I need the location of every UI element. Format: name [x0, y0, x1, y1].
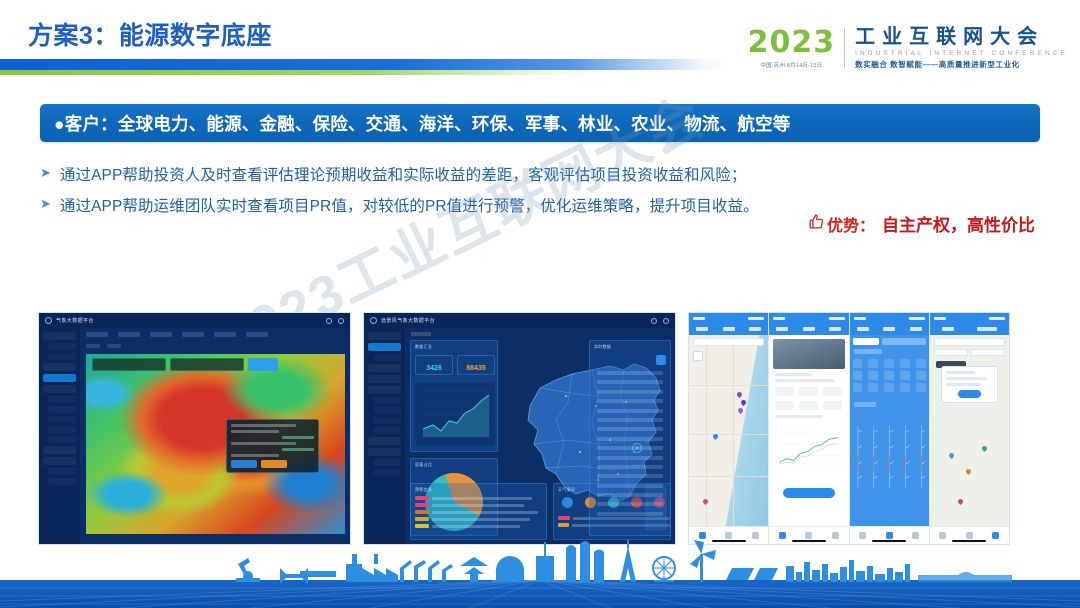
topbar-actions — [651, 318, 669, 324]
logo-chinese-name: 工业互联网大会 — [855, 26, 1068, 48]
phone-row — [689, 313, 1009, 544]
sidebar-item[interactable] — [368, 437, 401, 445]
tab-item[interactable] — [118, 332, 140, 337]
heatmap-filter-bar — [92, 358, 278, 371]
map-marker-icon[interactable] — [737, 407, 744, 414]
forecast-cell — [868, 371, 878, 380]
list-item[interactable] — [415, 503, 546, 507]
feed-item[interactable] — [597, 390, 663, 394]
popup-action-button[interactable] — [958, 390, 981, 398]
feed-item[interactable] — [597, 371, 663, 375]
sidebar-item[interactable] — [43, 446, 76, 454]
feed-item[interactable] — [597, 418, 663, 422]
sidebar-item[interactable] — [48, 396, 76, 403]
dashboard-content — [80, 328, 350, 544]
nav-bar — [930, 323, 1009, 335]
info-chip[interactable] — [775, 387, 794, 396]
phone-content — [769, 335, 848, 526]
map-canvas[interactable] — [930, 335, 1009, 526]
clock-text — [934, 317, 946, 320]
forecast-grid[interactable] — [850, 335, 929, 526]
date-range-input[interactable] — [170, 358, 244, 371]
sidebar-item[interactable] — [43, 385, 76, 393]
card-title: 预警信息 — [415, 487, 432, 493]
sidebar-item[interactable] — [368, 375, 401, 383]
feed-item[interactable] — [597, 493, 663, 497]
forecast-cell — [868, 383, 878, 392]
tab-strip — [86, 332, 344, 340]
forecast-cell — [853, 383, 863, 392]
nav-button[interactable] — [749, 327, 761, 331]
conference-logo: 2023 中国·苏州 8月14日-15日 工业互联网大会 INDUSTRIAL … — [748, 26, 1068, 70]
nav-title — [883, 327, 895, 331]
tab-home[interactable] — [699, 532, 706, 539]
forecast-cell — [900, 383, 910, 392]
logo-left-block: 2023 中国·苏州 8月14日-15日 — [748, 27, 845, 70]
slide-root: 方案3：能源数字底座 2023 中国·苏州 8月14日-15日 工业互联网大会 … — [0, 0, 1080, 608]
sidebar-item[interactable] — [43, 363, 76, 371]
chip-row — [775, 401, 842, 410]
dashboard-title: 远景风气象大数据平台 — [381, 317, 435, 324]
bullet-list: ➤ 通过APP帮助投资人及时查看评估理论预期收益和实际收益的差距，客观评估项目投… — [40, 163, 800, 225]
phone-detail-screen[interactable] — [769, 313, 849, 544]
tooltip-primary-button[interactable] — [231, 460, 257, 468]
forecast-cell — [853, 371, 863, 380]
severity-badge — [415, 510, 429, 514]
customer-banner-text: ●客户：全球电力、能源、金融、保险、交通、海洋、环保、军事、林业、农业、物流、航… — [54, 111, 790, 136]
bullet-text: 通过APP帮助运维团队实时查看项目PR值，对较低的PR值进行预警，优化运维策略，… — [60, 194, 759, 219]
nav-button[interactable] — [696, 327, 708, 331]
forecast-cell — [916, 359, 926, 368]
forecast-cell — [900, 371, 910, 380]
nav-button[interactable] — [723, 327, 735, 331]
topbar-actions — [326, 318, 344, 324]
expand-button[interactable] — [656, 355, 666, 365]
back-button[interactable] — [776, 327, 788, 331]
popup-line — [946, 383, 981, 386]
dashboard-sidebar — [364, 328, 405, 544]
map-tooltip-popup — [226, 419, 319, 473]
clock-text — [773, 317, 785, 320]
dashboard-topbar: 气象大数据平台 — [39, 313, 350, 328]
nav-action[interactable] — [977, 327, 997, 331]
stat-value: 3426 — [416, 365, 452, 372]
feed-item[interactable] — [597, 427, 663, 431]
sidebar-item[interactable] — [43, 457, 76, 465]
dashboard-window: 远景风气象大数据平台 — [364, 313, 675, 544]
list-item[interactable] — [415, 496, 546, 500]
section-title — [854, 402, 876, 407]
nav-bar — [689, 323, 768, 335]
severity-badge — [558, 516, 570, 520]
feed-item[interactable] — [597, 437, 663, 441]
forecast-column — [850, 356, 866, 392]
sidebar-item-active[interactable] — [43, 374, 76, 382]
clock-text — [693, 317, 705, 320]
skyline-decoration — [0, 540, 1080, 608]
divider-green — [0, 70, 600, 75]
list-item[interactable] — [415, 524, 546, 528]
card-title: 实时数据 — [594, 344, 611, 350]
signal-battery-icons — [829, 317, 845, 320]
dashboard-content: 数据汇总 3426 88435 — [405, 328, 675, 544]
severity-badge — [415, 503, 429, 507]
detail-line — [775, 379, 835, 382]
hero-image — [773, 339, 844, 369]
breadcrumb — [411, 332, 431, 336]
dashboard-topbar: 远景风气象大数据平台 — [364, 313, 675, 328]
dashboard-sidebar — [39, 328, 80, 544]
tab-home[interactable] — [779, 532, 786, 539]
popup-line — [946, 377, 987, 380]
line-chart — [415, 383, 495, 445]
status-bar — [850, 313, 929, 323]
feed-item[interactable] — [597, 484, 663, 488]
screenshot-heatmap-dashboard[interactable]: 气象大数据平台 — [38, 312, 351, 545]
tooltip-buttons — [231, 460, 287, 468]
list-item: ➤ 通过APP帮助运维团队实时查看项目PR值，对较低的PR值进行预警，优化运维策… — [40, 194, 800, 219]
heatmap-canvas[interactable] — [86, 354, 345, 534]
tooltip-secondary-button[interactable] — [261, 460, 287, 468]
detail-line — [775, 415, 823, 418]
info-chip[interactable] — [823, 387, 842, 396]
primary-action-button[interactable] — [783, 488, 834, 498]
search-input[interactable] — [693, 338, 764, 346]
stat-tile: 3426 — [415, 355, 453, 375]
severity-badge — [415, 524, 429, 528]
map-marker-icon[interactable] — [957, 498, 964, 505]
nav-action[interactable] — [829, 327, 841, 331]
customer-banner: ●客户：全球电力、能源、金融、保险、交通、海洋、环保、军事、林业、农业、物流、航… — [40, 104, 1040, 142]
region-select[interactable] — [92, 358, 166, 371]
subtab-strip — [86, 344, 121, 348]
filter-chip-row — [934, 349, 1005, 356]
forecast-column — [897, 356, 913, 392]
forecast-cell — [853, 359, 863, 368]
sidebar-item[interactable] — [373, 427, 401, 434]
sidebar-item[interactable] — [373, 354, 401, 361]
feed-item[interactable] — [597, 380, 663, 384]
sidebar-item[interactable] — [373, 397, 401, 404]
sidebar-item[interactable] — [373, 417, 401, 424]
forecast-cell — [868, 359, 878, 368]
info-chip[interactable] — [799, 401, 818, 410]
layers-button[interactable] — [693, 351, 703, 361]
region-filter[interactable] — [853, 338, 879, 345]
card-alert-list: 预警信息 — [410, 483, 547, 540]
thumbs-up-icon — [808, 213, 825, 235]
app-logo-icon — [370, 317, 377, 324]
nav-bar — [769, 323, 848, 335]
forecast-cell — [916, 383, 926, 392]
card-title: 天气情况 — [558, 487, 575, 493]
card-title: 数据汇总 — [415, 344, 432, 350]
phone-content — [850, 335, 929, 526]
nav-title — [803, 327, 815, 331]
refresh-icon[interactable] — [651, 318, 657, 324]
map-canvas[interactable] — [689, 335, 768, 526]
sidebar-item-active[interactable] — [368, 343, 401, 351]
avatar-icon[interactable] — [338, 318, 344, 324]
forecast-column — [865, 356, 881, 392]
card-statistics: 数据汇总 3426 88435 — [410, 340, 498, 452]
tab-item[interactable] — [86, 332, 108, 337]
tab-data[interactable] — [886, 532, 893, 539]
sidebar-item[interactable] — [48, 478, 76, 485]
tab-item[interactable] — [150, 332, 172, 337]
sidebar-item[interactable] — [368, 332, 401, 340]
feed-item[interactable] — [597, 465, 663, 469]
logo-right-block: 工业互联网大会 INDUSTRIAL INTERNET CONFERENCE 数… — [845, 26, 1068, 70]
sidebar-item[interactable] — [368, 448, 401, 456]
page-title: 方案3：能源数字底座 — [28, 16, 272, 52]
tooltip-value — [282, 436, 314, 439]
feed-item[interactable] — [597, 446, 663, 450]
sidebar-item[interactable] — [48, 343, 76, 350]
advantage-callout: 优势： 自主产权，高性价比 — [808, 211, 1035, 236]
filter-chip[interactable] — [971, 349, 1005, 356]
forecast-cell — [884, 371, 894, 380]
forecast-column — [913, 356, 929, 392]
chip-row — [775, 387, 842, 396]
status-bar — [930, 313, 1009, 323]
phone-forecast-screen[interactable] — [850, 313, 930, 544]
phone-map-screen[interactable] — [689, 313, 769, 544]
sidebar-item[interactable] — [48, 426, 76, 433]
tab-profile[interactable] — [992, 532, 999, 539]
arrow-bullet-icon: ➤ — [40, 194, 51, 214]
back-button[interactable] — [942, 327, 954, 331]
divider-blue — [0, 59, 730, 70]
forecast-column — [881, 356, 897, 392]
tab-profile[interactable] — [912, 532, 919, 539]
dashboard-title: 气象大数据平台 — [56, 317, 94, 324]
tab-data[interactable] — [966, 532, 973, 539]
sidebar-item[interactable] — [368, 386, 401, 394]
screenshot-row: 气象大数据平台 — [38, 312, 1010, 545]
map-marker-icon[interactable] — [948, 452, 955, 459]
station-filter[interactable] — [882, 338, 926, 345]
tab-item[interactable] — [214, 332, 236, 337]
stat-tile: 88435 — [457, 355, 495, 375]
tab-home[interactable] — [939, 532, 946, 539]
tab-profile[interactable] — [832, 532, 839, 539]
severity-badge — [558, 523, 569, 527]
map-marker-icon[interactable] — [736, 391, 743, 398]
dashboard-window: 气象大数据平台 — [39, 313, 350, 544]
feed-item[interactable] — [597, 502, 663, 506]
feed-item[interactable] — [597, 409, 663, 413]
card-title: 容量占比 — [415, 462, 432, 468]
status-bar — [769, 313, 848, 323]
sidebar-item[interactable] — [43, 332, 76, 340]
alert-text — [432, 504, 524, 507]
arrow-bullet-icon: ➤ — [40, 163, 51, 183]
back-button[interactable] — [857, 327, 869, 331]
info-chip[interactable] — [823, 401, 842, 410]
alert-text — [432, 518, 530, 521]
nav-bar — [850, 323, 929, 335]
list-item[interactable] — [415, 510, 546, 514]
forecast-cell — [900, 359, 910, 368]
map-marker-icon[interactable] — [740, 399, 747, 406]
map-marker-icon[interactable] — [965, 468, 972, 475]
tooltip-line — [231, 424, 296, 427]
alert-text — [432, 525, 520, 528]
list-item: ➤ 通过APP帮助投资人及时查看评估理论预期收益和实际收益的差距，客观评估项目投… — [40, 163, 800, 188]
tab-home[interactable] — [859, 532, 866, 539]
severity-badge — [415, 496, 429, 500]
bullet-text: 通过APP帮助投资人及时查看评估理论预期收益和实际收益的差距，客观评估项目投资收… — [60, 163, 747, 188]
status-bar — [689, 313, 768, 323]
feed-item[interactable] — [597, 456, 663, 460]
map-info-popup — [941, 366, 998, 403]
wind-barb-chart — [850, 409, 929, 505]
signal-battery-icons — [909, 317, 925, 320]
app-logo-icon — [45, 317, 52, 324]
avatar-icon[interactable] — [663, 318, 669, 324]
advantage-value: 自主产权，高性价比 — [882, 211, 1035, 236]
map-marker-icon[interactable] — [702, 498, 709, 505]
tooltip-value — [282, 448, 314, 451]
tab-data[interactable] — [805, 532, 812, 539]
clock-text — [854, 317, 866, 320]
forecast-cell — [916, 371, 926, 380]
advantage-label: 优势： — [827, 212, 875, 236]
tab-item[interactable] — [246, 332, 268, 337]
forecast-cell — [884, 359, 894, 368]
severity-badge — [415, 517, 429, 521]
sidebar-item[interactable] — [48, 416, 76, 423]
sidebar-item[interactable] — [48, 406, 76, 413]
detail-line — [775, 373, 811, 376]
logo-year: 2023 — [748, 27, 836, 59]
feed-item[interactable] — [597, 474, 663, 478]
sidebar-item[interactable] — [48, 468, 76, 475]
section-title — [854, 349, 883, 354]
map-marker-icon[interactable] — [712, 433, 719, 440]
pr-line-chart — [769, 421, 848, 477]
phone-content — [689, 335, 768, 526]
sidebar-item[interactable] — [368, 364, 401, 372]
wind-icon — [562, 497, 573, 508]
tooltip-line — [231, 430, 279, 433]
alert-text — [432, 497, 532, 500]
sidebar-item[interactable] — [373, 469, 401, 476]
stat-value: 88435 — [458, 365, 494, 372]
sidebar-item[interactable] — [373, 459, 401, 466]
screenshot-mobile-apps[interactable] — [688, 312, 1010, 545]
signal-battery-icons — [748, 317, 764, 320]
subtab-item[interactable] — [86, 344, 100, 348]
sidebar-item[interactable] — [373, 407, 401, 414]
tab-data[interactable] — [725, 532, 732, 539]
filter-row — [850, 335, 929, 345]
map-marker-icon[interactable] — [981, 445, 988, 452]
forecast-cell — [884, 383, 894, 392]
signal-battery-icons — [989, 317, 1005, 320]
tab-item[interactable] — [182, 332, 204, 337]
screenshot-map-dashboard[interactable]: 远景风气象大数据平台 — [363, 312, 676, 545]
tooltip-line — [231, 442, 296, 445]
skyline-silhouette — [236, 540, 1012, 584]
tab-profile[interactable] — [752, 532, 759, 539]
logo-english-name: INDUSTRIAL INTERNET CONFERENCE — [855, 50, 1068, 57]
phone-map-popup-screen[interactable] — [930, 313, 1009, 544]
dashboard-grid: 数据汇总 3426 88435 — [410, 340, 671, 540]
filter-chip[interactable] — [934, 349, 968, 356]
subtab-item[interactable] — [107, 344, 121, 348]
alert-text — [432, 511, 538, 514]
logo-slogan: 数实融合 数智赋能——高质量推进新型工业化 — [855, 59, 1068, 70]
bell-icon[interactable] — [326, 318, 332, 324]
search-input[interactable] — [934, 338, 1005, 346]
popup-line — [946, 371, 975, 374]
phone-content — [930, 335, 1009, 526]
info-chip[interactable] — [775, 401, 794, 410]
sidebar-item[interactable] — [48, 353, 76, 360]
list-item[interactable] — [415, 517, 546, 521]
info-chip[interactable] — [799, 387, 818, 396]
logo-date: 中国·苏州 8月14日-15日 — [748, 61, 836, 69]
query-button[interactable] — [248, 358, 278, 371]
feed-item[interactable] — [597, 399, 663, 403]
nav-action[interactable] — [910, 327, 922, 331]
tooltip-line — [231, 454, 279, 457]
feed-item[interactable] — [597, 512, 663, 516]
card-activity-feed: 实时数据 — [589, 340, 671, 536]
sidebar-item[interactable] — [48, 436, 76, 443]
